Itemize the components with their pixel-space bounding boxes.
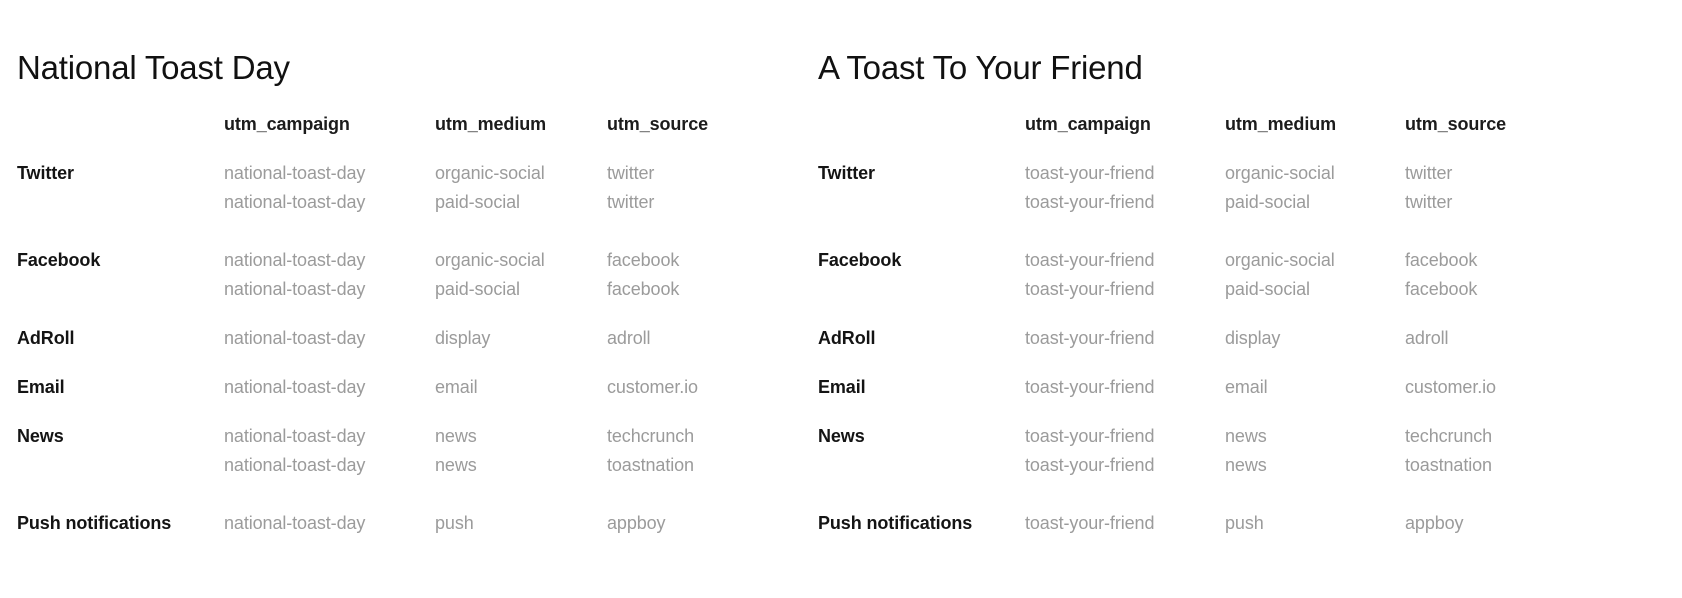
cell-utm-source: twittertwitter (607, 159, 787, 217)
row-spacer-cell (17, 353, 787, 373)
row-label: Push notifications (818, 509, 1025, 538)
cell-utm-source: appboy (1405, 509, 1585, 538)
cell-value: appboy (1405, 509, 1585, 538)
cell-value: paid-social (1225, 275, 1405, 304)
utm-table: utm_campaign utm_medium utm_source Twitt… (818, 112, 1585, 538)
cell-value: twitter (1405, 188, 1585, 217)
row-label: News (818, 422, 1025, 480)
cell-utm-campaign: toast-your-friendtoast-your-friend (1025, 159, 1225, 217)
cell-value: techcrunch (1405, 422, 1585, 451)
row-spacer-cell (818, 353, 1585, 373)
table-row[interactable]: Facebooktoast-your-friendtoast-your-frie… (818, 246, 1585, 304)
table-row[interactable]: Emailnational-toast-dayemailcustomer.io (17, 373, 787, 402)
column-header-utm-source: utm_source (607, 112, 787, 159)
column-header-blank (818, 112, 1025, 159)
row-label: Email (17, 373, 224, 402)
row-spacer (818, 353, 1585, 373)
cell-utm-medium: organic-socialpaid-social (1225, 159, 1405, 217)
cell-value: national-toast-day (224, 159, 435, 188)
page-title: A Toast To Your Friend (818, 48, 1143, 88)
cell-value: toast-your-friend (1025, 509, 1225, 538)
cell-utm-medium: newsnews (1225, 422, 1405, 480)
cell-value: news (435, 422, 607, 451)
cell-value: national-toast-day (224, 275, 435, 304)
row-spacer (818, 304, 1585, 324)
cell-value: news (1225, 422, 1405, 451)
cell-utm-source: techcrunchtoastnation (607, 422, 787, 480)
header-row: utm_campaign utm_medium utm_source (818, 112, 1585, 159)
cell-value: organic-social (435, 159, 607, 188)
table-row[interactable]: Push notificationsnational-toast-daypush… (17, 509, 787, 538)
cell-utm-medium: push (1225, 509, 1405, 538)
row-label: Email (818, 373, 1025, 402)
cell-value: facebook (1405, 275, 1585, 304)
column-header-blank (17, 112, 224, 159)
cell-value: paid-social (435, 275, 607, 304)
cell-utm-source: adroll (1405, 324, 1585, 353)
row-spacer-cell (17, 304, 787, 324)
header-row: utm_campaign utm_medium utm_source (17, 112, 787, 159)
table-wrapper: utm_campaign utm_medium utm_source Twitt… (801, 112, 1682, 538)
cell-utm-source: adroll (607, 324, 787, 353)
cell-value: paid-social (1225, 188, 1405, 217)
table-row[interactable]: Emailtoast-your-friendemailcustomer.io (818, 373, 1585, 402)
row-spacer-cell (818, 402, 1585, 422)
cell-value: toastnation (1405, 451, 1585, 480)
table-body: Twittertoast-your-friendtoast-your-frien… (818, 159, 1585, 538)
cell-utm-medium: display (435, 324, 607, 353)
cell-value: toast-your-friend (1025, 373, 1225, 402)
cell-value: twitter (607, 159, 787, 188)
cell-utm-source: customer.io (607, 373, 787, 402)
table-body: Twitternational-toast-daynational-toast-… (17, 159, 787, 538)
cell-utm-campaign: toast-your-friend (1025, 324, 1225, 353)
cell-value: toast-your-friend (1025, 275, 1225, 304)
row-spacer (17, 217, 787, 246)
row-label: Push notifications (17, 509, 224, 538)
cell-value: national-toast-day (224, 451, 435, 480)
row-spacer-cell (818, 304, 1585, 324)
cell-utm-source: customer.io (1405, 373, 1585, 402)
row-label: News (17, 422, 224, 480)
row-spacer-cell (818, 480, 1585, 509)
cell-value: paid-social (435, 188, 607, 217)
cell-utm-medium: push (435, 509, 607, 538)
table-row[interactable]: Twitternational-toast-daynational-toast-… (17, 159, 787, 217)
cell-value: techcrunch (607, 422, 787, 451)
column-header-utm-campaign: utm_campaign (224, 112, 435, 159)
row-spacer (17, 353, 787, 373)
table-row[interactable]: AdRolltoast-your-frienddisplayadroll (818, 324, 1585, 353)
row-spacer (818, 480, 1585, 509)
page-canvas: National Toast Day utm_campaign utm_medi… (0, 0, 1682, 598)
cell-value: display (1225, 324, 1405, 353)
cell-utm-campaign: toast-your-friend (1025, 509, 1225, 538)
cell-value: customer.io (607, 373, 787, 402)
row-label: Twitter (818, 159, 1025, 217)
cell-utm-campaign: national-toast-day (224, 324, 435, 353)
row-spacer (17, 304, 787, 324)
row-spacer (818, 402, 1585, 422)
cell-value: national-toast-day (224, 246, 435, 275)
cell-value: organic-social (435, 246, 607, 275)
table-head: utm_campaign utm_medium utm_source (17, 112, 787, 159)
cell-value: organic-social (1225, 246, 1405, 275)
row-label: AdRoll (17, 324, 224, 353)
row-spacer (818, 217, 1585, 246)
cell-value: organic-social (1225, 159, 1405, 188)
cell-utm-medium: display (1225, 324, 1405, 353)
cell-utm-source: appboy (607, 509, 787, 538)
cell-value: push (435, 509, 607, 538)
row-label: Facebook (818, 246, 1025, 304)
cell-value: news (435, 451, 607, 480)
row-label: Twitter (17, 159, 224, 217)
column-header-utm-medium: utm_medium (435, 112, 607, 159)
cell-utm-medium: email (435, 373, 607, 402)
cell-utm-campaign: national-toast-daynational-toast-day (224, 159, 435, 217)
cell-utm-medium: organic-socialpaid-social (435, 246, 607, 304)
table-row[interactable]: AdRollnational-toast-daydisplayadroll (17, 324, 787, 353)
column-header-utm-medium: utm_medium (1225, 112, 1405, 159)
cell-utm-campaign: national-toast-daynational-toast-day (224, 422, 435, 480)
table-row[interactable]: Facebooknational-toast-daynational-toast… (17, 246, 787, 304)
table-row[interactable]: Twittertoast-your-friendtoast-your-frien… (818, 159, 1585, 217)
panel-a-toast-to-your-friend: A Toast To Your Friend utm_campaign utm_… (801, 0, 1682, 598)
cell-utm-campaign: national-toast-day (224, 373, 435, 402)
cell-value: toast-your-friend (1025, 324, 1225, 353)
cell-utm-campaign: toast-your-friendtoast-your-friend (1025, 422, 1225, 480)
cell-utm-campaign: toast-your-friend (1025, 373, 1225, 402)
panel-national-toast-day: National Toast Day utm_campaign utm_medi… (0, 0, 800, 598)
cell-utm-source: facebookfacebook (607, 246, 787, 304)
row-spacer (17, 480, 787, 509)
cell-utm-campaign: toast-your-friendtoast-your-friend (1025, 246, 1225, 304)
cell-value: national-toast-day (224, 373, 435, 402)
cell-value: national-toast-day (224, 324, 435, 353)
row-spacer-cell (818, 217, 1585, 246)
cell-value: appboy (607, 509, 787, 538)
cell-value: twitter (607, 188, 787, 217)
page-title: National Toast Day (17, 48, 290, 88)
cell-utm-campaign: national-toast-day (224, 509, 435, 538)
cell-value: email (435, 373, 607, 402)
cell-value: national-toast-day (224, 188, 435, 217)
cell-value: toast-your-friend (1025, 159, 1225, 188)
cell-utm-medium: organic-socialpaid-social (1225, 246, 1405, 304)
cell-value: toastnation (607, 451, 787, 480)
cell-value: facebook (607, 275, 787, 304)
cell-value: national-toast-day (224, 509, 435, 538)
cell-utm-medium: email (1225, 373, 1405, 402)
cell-value: display (435, 324, 607, 353)
cell-value: toast-your-friend (1025, 246, 1225, 275)
cell-utm-source: twittertwitter (1405, 159, 1585, 217)
table-row[interactable]: Newsnational-toast-daynational-toast-day… (17, 422, 787, 480)
cell-utm-medium: organic-socialpaid-social (435, 159, 607, 217)
cell-utm-campaign: national-toast-daynational-toast-day (224, 246, 435, 304)
cell-value: push (1225, 509, 1405, 538)
cell-utm-source: facebookfacebook (1405, 246, 1585, 304)
cell-utm-source: techcrunchtoastnation (1405, 422, 1585, 480)
cell-value: adroll (1405, 324, 1585, 353)
cell-value: facebook (1405, 246, 1585, 275)
cell-value: twitter (1405, 159, 1585, 188)
cell-value: toast-your-friend (1025, 422, 1225, 451)
cell-value: national-toast-day (224, 422, 435, 451)
row-spacer (17, 402, 787, 422)
cell-value: toast-your-friend (1025, 451, 1225, 480)
table-row[interactable]: Newstoast-your-friendtoast-your-friendne… (818, 422, 1585, 480)
row-spacer-cell (17, 402, 787, 422)
table-wrapper: utm_campaign utm_medium utm_source Twitt… (0, 112, 800, 538)
cell-value: facebook (607, 246, 787, 275)
row-spacer-cell (17, 217, 787, 246)
row-label: Facebook (17, 246, 224, 304)
column-header-utm-source: utm_source (1405, 112, 1585, 159)
cell-utm-medium: newsnews (435, 422, 607, 480)
row-spacer-cell (17, 480, 787, 509)
utm-table: utm_campaign utm_medium utm_source Twitt… (17, 112, 787, 538)
cell-value: news (1225, 451, 1405, 480)
column-header-utm-campaign: utm_campaign (1025, 112, 1225, 159)
cell-value: toast-your-friend (1025, 188, 1225, 217)
cell-value: customer.io (1405, 373, 1585, 402)
table-row[interactable]: Push notificationstoast-your-friendpusha… (818, 509, 1585, 538)
table-head: utm_campaign utm_medium utm_source (818, 112, 1585, 159)
cell-value: adroll (607, 324, 787, 353)
cell-value: email (1225, 373, 1405, 402)
row-label: AdRoll (818, 324, 1025, 353)
